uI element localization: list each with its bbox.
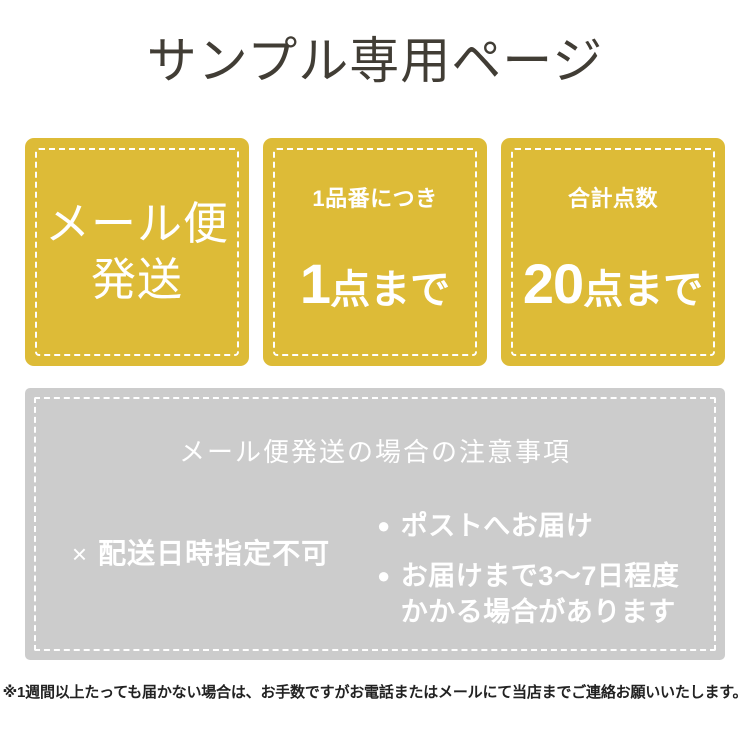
per-item-count-unit: 点まで xyxy=(330,268,450,312)
notice-panel: メール便発送の場合の注意事項 ×配送日時指定不可 ● ポストへお届け ● お届け… xyxy=(25,388,725,660)
total-count-caption: 合計点数 xyxy=(501,186,725,212)
mail-shipping-line-1: メール便 xyxy=(25,196,249,252)
notice-list-item-line-2: かかる場合があります xyxy=(401,594,680,630)
notice-heading: メール便発送の場合の注意事項 xyxy=(25,436,725,468)
notice-list-item-line-1: ポストへお届け xyxy=(401,511,594,541)
feature-box-mail-shipping-content: メール便 発送 xyxy=(25,196,249,308)
mail-shipping-line-2: 発送 xyxy=(25,252,249,308)
bullet-dot-icon: ● xyxy=(377,508,391,544)
feature-box-total-limit: 合計点数 20点まで xyxy=(501,138,725,366)
notice-list-item-line-1: お届けまで3〜7日程度 xyxy=(401,561,680,591)
total-count-line: 20点まで xyxy=(501,256,725,318)
feature-box-mail-shipping: メール便 発送 xyxy=(25,138,249,366)
per-item-caption: 1品番につき xyxy=(263,186,487,212)
notice-list-item: ● お届けまで3〜7日程度 かかる場合があります xyxy=(377,558,725,630)
notice-list: ● ポストへお届け ● お届けまで3〜7日程度 かかる場合があります xyxy=(377,508,725,630)
sample-page-banner: サンプル専用ページ メール便 発送 1品番につき 1点まで 合計点数 xyxy=(0,0,750,750)
notice-list-item-text: ポストへお届け xyxy=(401,508,594,544)
notice-body: ×配送日時指定不可 ● ポストへお届け ● お届けまで3〜7日程度 かかる場合が… xyxy=(25,508,725,630)
bullet-dot-icon: ● xyxy=(377,558,391,594)
notice-list-item: ● ポストへお届け xyxy=(377,508,725,544)
cross-mark-icon: × xyxy=(72,539,88,569)
total-count-number: 20 xyxy=(523,252,583,315)
per-item-count-line: 1点まで xyxy=(263,256,487,318)
feature-box-per-item-limit: 1品番につき 1点まで xyxy=(263,138,487,366)
feature-box-total-limit-content: 合計点数 20点まで xyxy=(501,186,725,318)
feature-box-per-item-limit-content: 1品番につき 1点まで xyxy=(263,186,487,318)
per-item-count-number: 1 xyxy=(300,252,330,315)
notice-item-no-date-designation: ×配送日時指定不可 xyxy=(25,508,377,572)
no-date-designation-label: 配送日時指定不可 xyxy=(98,538,330,569)
total-count-unit: 点まで xyxy=(583,268,703,312)
feature-box-row: メール便 発送 1品番につき 1点まで 合計点数 20点まで xyxy=(25,138,725,366)
footer-note: ※1週間以上たっても届かない場合は、お手数ですがお電話またはメールにて当店までご… xyxy=(0,682,750,704)
page-title: サンプル専用ページ xyxy=(0,32,750,90)
notice-list-item-text: お届けまで3〜7日程度 かかる場合があります xyxy=(401,558,680,630)
